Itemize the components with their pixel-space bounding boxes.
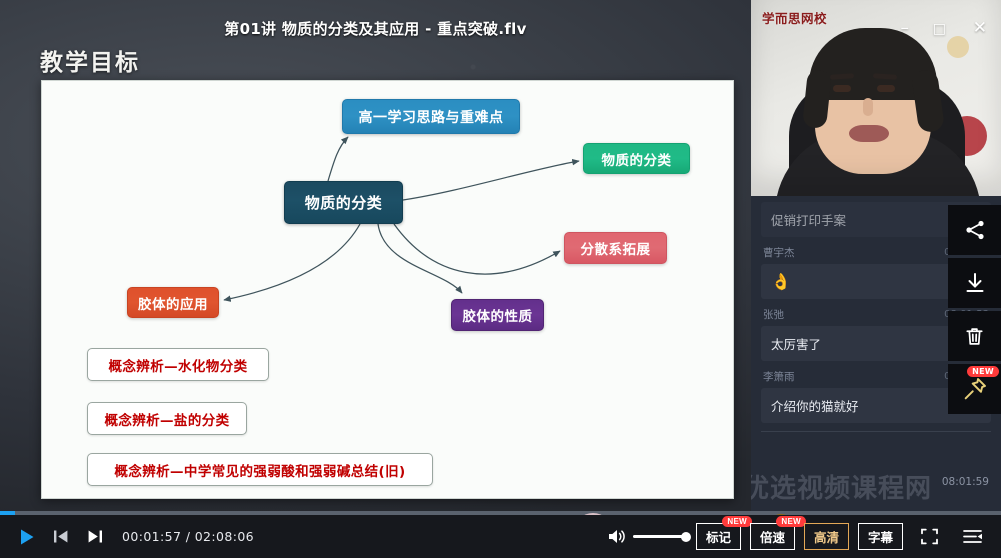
volume-icon [608,528,627,545]
mindmap-node-classification[interactable]: 物质的分类 [583,143,690,174]
pin-button[interactable]: NEW [948,364,1001,414]
video-title: 第01讲 物质的分类及其应用 - 重点突破.flv [0,18,751,39]
next-button[interactable] [78,520,112,554]
playlist-button[interactable] [955,520,989,554]
play-button[interactable] [10,520,44,554]
fullscreen-button[interactable] [912,520,946,554]
volume-slider[interactable] [633,535,687,538]
right-controls: NEW 标记 NEW 倍速 高清 字幕 [608,520,1001,554]
mindmap-node-root[interactable]: 物质的分类 [284,181,403,224]
video-player-app: 第01讲 物质的分类及其应用 - 重点突破.flv 教学目标 高一学习思路与重难… [0,0,1001,558]
video-stage[interactable]: 第01讲 物质的分类及其应用 - 重点突破.flv 教学目标 高一学习思路与重难… [0,0,751,558]
pin-icon [962,376,988,402]
action-rail: NEW [948,205,1001,414]
download-icon [963,271,987,295]
delete-button[interactable] [948,311,1001,361]
playback-speed-button[interactable]: NEW 倍速 [750,523,795,550]
previous-icon [53,529,69,544]
camera-brand-label: 学而思网校 [762,8,827,27]
quality-hd-button[interactable]: 高清 [804,523,849,550]
mark-new-badge: NEW [722,516,752,527]
chat-last-timestamp: 08:01:59 [942,476,989,488]
chat-message-user: 张弛 [763,307,784,322]
pin-new-badge: NEW [967,366,999,377]
chat-divider [761,431,991,432]
mindmap-node-dispersion[interactable]: 分散系拓展 [564,232,667,264]
chat-message-user: 李箫雨 [763,369,795,384]
mark-button-label: 标记 [706,531,731,545]
speed-new-badge: NEW [776,516,806,527]
slide-heading: 教学目标 [40,43,140,77]
time-display: 00:01:57 / 02:08:06 [122,529,254,544]
close-icon[interactable]: ✕ [973,20,987,37]
previous-button[interactable] [44,520,78,554]
reference-box-2[interactable]: 概念辨析—盐的分类 [87,402,247,435]
play-icon [18,528,36,546]
playlist-icon [962,528,983,545]
quality-hd-label: 高清 [814,531,839,545]
volume-slider-knob[interactable] [681,532,691,542]
player-control-bar: 00:01:57 / 02:08:06 NEW 标记 NEW 倍速 [0,515,1001,558]
transport-controls: 00:01:57 / 02:08:06 [0,520,254,554]
subtitle-label: 字幕 [868,531,893,545]
share-button[interactable] [948,205,1001,255]
reference-box-1[interactable]: 概念辨析—水化物分类 [87,348,269,381]
whiteboard-slide: 高一学习思路与重难点 物质的分类 物质的分类 分散系拓展 胶体的应用 胶体的性质… [41,80,734,499]
maximize-icon[interactable]: □ [933,22,946,36]
subtitle-button[interactable]: 字幕 [858,523,903,550]
download-button[interactable] [948,258,1001,308]
share-icon [963,218,987,242]
mindmap-node-colloid-app[interactable]: 胶体的应用 [127,287,219,318]
next-icon [87,529,103,544]
fullscreen-icon [920,527,939,546]
teacher-camera-view[interactable]: 学而思网校 – □ ✕ [751,0,1001,196]
playback-speed-label: 倍速 [760,531,785,545]
chat-message-user: 曹宇杰 [763,245,795,260]
camera-vignette [751,0,1001,196]
mindmap-node-study-guide[interactable]: 高一学习思路与重难点 [342,99,520,134]
mindmap-node-colloid-prop[interactable]: 胶体的性质 [451,299,544,331]
mark-button[interactable]: NEW 标记 [696,523,741,550]
reference-box-3[interactable]: 概念辨析—中学常见的强弱酸和强弱碱总结(旧) [87,453,433,486]
right-panel: 学而思网校 – □ ✕ 促销打印手案 [751,0,1001,558]
volume-control[interactable] [608,528,687,545]
minimize-icon[interactable]: – [901,20,910,37]
delete-icon [963,325,986,348]
